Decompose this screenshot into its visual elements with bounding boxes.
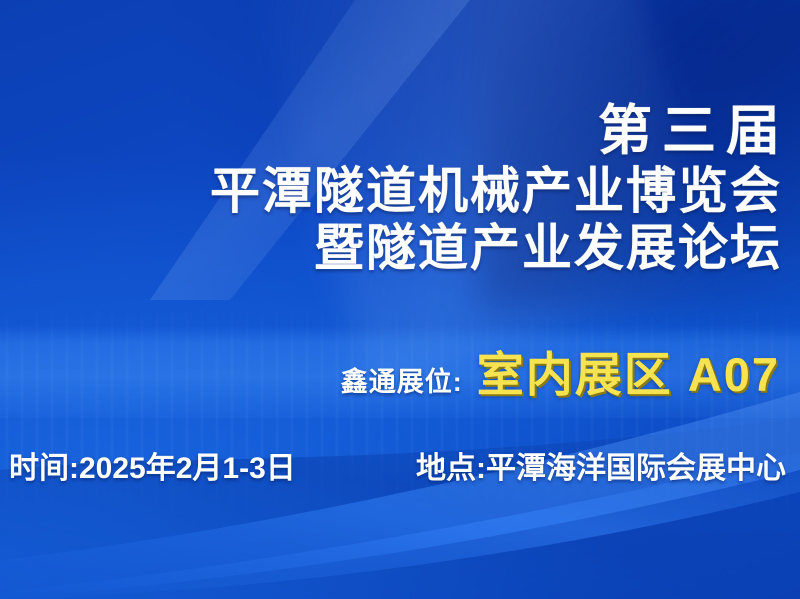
title-line-main: 平潭隧道机械产业博览会 [210, 166, 782, 216]
booth-info: 鑫通展位: 室内展区 A07 [341, 336, 780, 405]
event-title: 第三届 平潭隧道机械产业博览会 暨隧道产业发展论坛 [210, 104, 780, 273]
banner-content: 第三届 平潭隧道机械产业博览会 暨隧道产业发展论坛 鑫通展位: 室内展区 A07… [0, 0, 800, 599]
title-line-subtitle: 暨隧道产业发展论坛 [210, 223, 782, 273]
title-line-edition: 第三届 [210, 104, 790, 158]
exhibition-banner: 第三届 平潭隧道机械产业博览会 暨隧道产业发展论坛 鑫通展位: 室内展区 A07… [0, 0, 800, 599]
event-date: 时间:2025年2月1-3日 [9, 443, 296, 487]
event-meta: 时间:2025年2月1-3日 地点:平潭海洋国际会展中心 [9, 443, 786, 487]
booth-number: 室内展区 A07 [477, 336, 780, 405]
booth-label: 鑫通展位: [341, 360, 463, 399]
event-location: 地点:平潭海洋国际会展中心 [416, 443, 786, 487]
